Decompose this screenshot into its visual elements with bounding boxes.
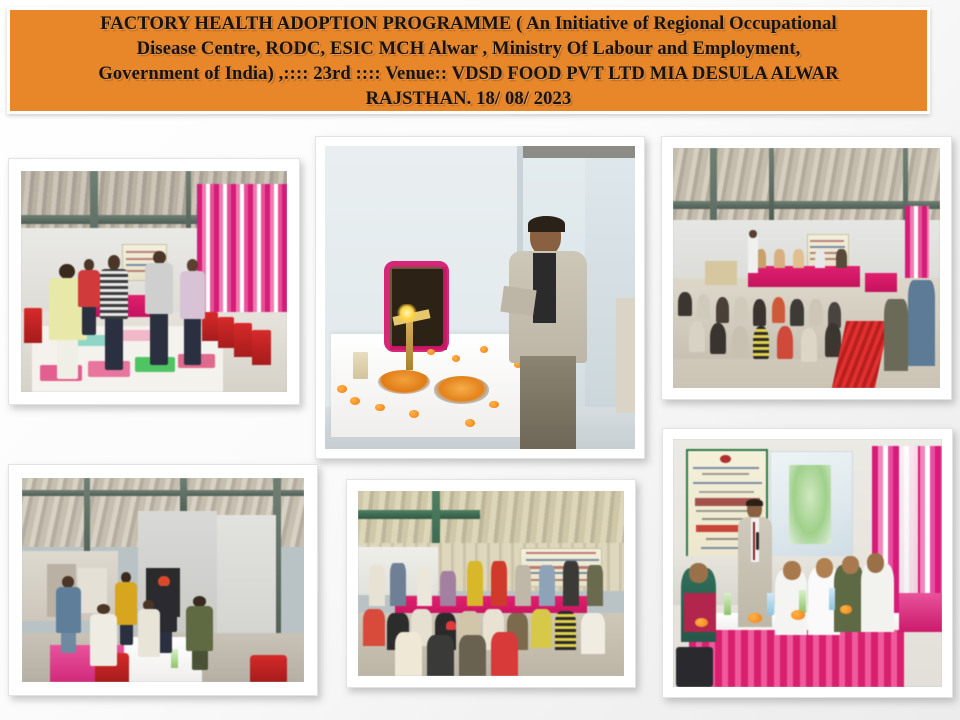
photo-group-participants[interactable] [346, 479, 636, 688]
photo-yoga-session[interactable] [8, 158, 300, 405]
photo-group-participants-image [358, 491, 624, 676]
photo-registration-screening-desk[interactable] [8, 464, 318, 696]
photo-dais-speaker-image [673, 439, 942, 687]
photo-yoga-session-image [21, 171, 287, 392]
photo-audience-hall-image [673, 148, 940, 388]
page-title: FACTORY HEALTH ADOPTION PROGRAMME ( An I… [98, 11, 838, 111]
photo-registration-screening-image [22, 478, 304, 682]
photo-audience-hall-wide[interactable] [661, 136, 952, 400]
photo-dais-speaker-presentation[interactable] [662, 428, 953, 698]
slide-canvas: FACTORY HEALTH ADOPTION PROGRAMME ( An I… [0, 0, 960, 720]
photo-lamp-lighting-inauguration[interactable] [315, 136, 645, 459]
title-banner: FACTORY HEALTH ADOPTION PROGRAMME ( An I… [7, 7, 930, 114]
photo-lamp-lighting-image [325, 146, 635, 449]
